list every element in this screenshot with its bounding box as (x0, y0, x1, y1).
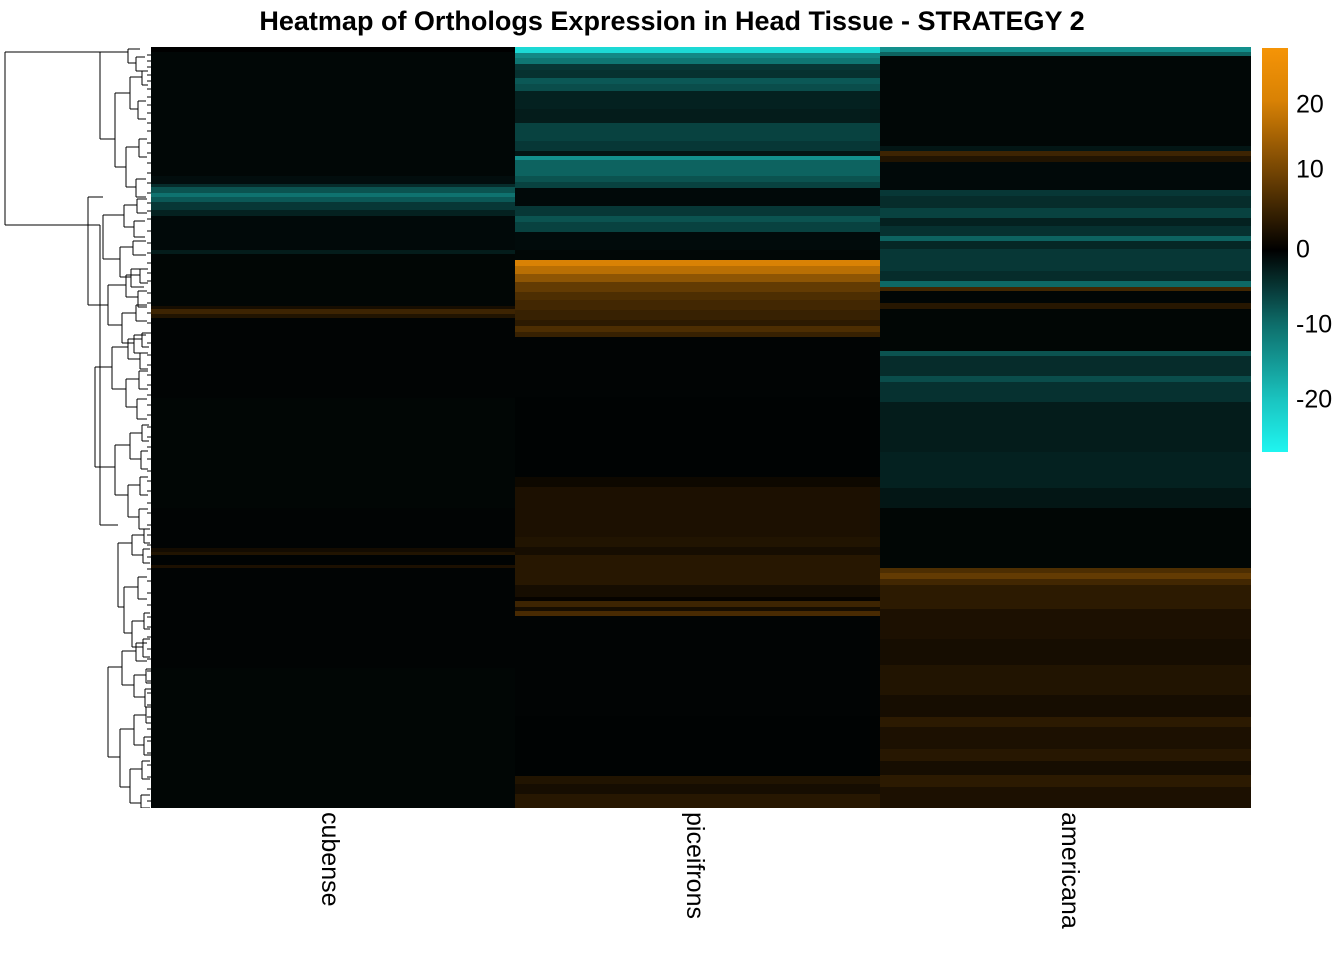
heatmap-band (515, 141, 880, 151)
heatmap-band (515, 188, 880, 206)
heatmap-column-piceifrons (515, 47, 880, 808)
heatmap-band (515, 160, 880, 176)
heatmap-band (515, 585, 880, 597)
heatmap-band (880, 727, 1251, 749)
heatmap-band (880, 749, 1251, 761)
heatmap-band (880, 226, 1251, 236)
heatmap-band (880, 271, 1251, 281)
heatmap-band (151, 202, 515, 210)
heatmap-band (880, 695, 1251, 717)
heatmap-band (880, 488, 1251, 508)
heatmap-band (515, 123, 880, 141)
heatmap-band (880, 639, 1251, 665)
heatmap-band (880, 241, 1251, 249)
colorbar-legend (1262, 48, 1288, 452)
row-dendrogram (0, 47, 151, 808)
heatmap-band (880, 585, 1251, 609)
heatmap-band (515, 537, 880, 547)
heatmap-band (151, 668, 515, 808)
heatmap-band (515, 91, 880, 109)
heatmap-band (151, 52, 515, 176)
heatmap-column-americana (880, 47, 1251, 808)
heatmap-band (515, 616, 880, 716)
heatmap-band (515, 109, 880, 123)
heatmap-band (515, 337, 880, 397)
heatmap-band (880, 609, 1251, 639)
heatmap-band (515, 70, 880, 78)
heatmap-band (515, 292, 880, 300)
column-label-piceifrons: piceifrons (680, 812, 709, 919)
heatmap-band (515, 555, 880, 585)
colorbar-tick-20: 20 (1296, 91, 1324, 120)
heatmap-band (880, 717, 1251, 727)
heatmap-band (880, 382, 1251, 402)
heatmap-band (515, 206, 880, 216)
heatmap-band (151, 508, 515, 548)
heatmap-band (880, 787, 1251, 808)
colorbar-tick-0: 0 (1296, 236, 1310, 265)
heatmap-band (880, 761, 1251, 775)
colorbar-tick-neg20: -20 (1296, 386, 1332, 415)
heatmap-band (515, 300, 880, 310)
heatmap-band (151, 555, 515, 565)
page-title: Heatmap of Orthologs Expression in Head … (0, 6, 1344, 37)
heatmap-band (880, 309, 1251, 351)
heatmap-band (151, 318, 515, 398)
heatmap-band (151, 568, 515, 668)
heatmap-band (880, 249, 1251, 271)
heatmap-band (880, 402, 1251, 452)
heatmap-band (515, 266, 880, 274)
heatmap-band (880, 775, 1251, 787)
heatmap-band (880, 208, 1251, 218)
column-label-americana: americana (1055, 812, 1084, 929)
heatmap-band (151, 216, 515, 250)
heatmap-band (151, 398, 515, 508)
colorbar-tick-10: 10 (1296, 156, 1324, 185)
heatmap-band (151, 176, 515, 184)
heatmap-band (880, 196, 1251, 208)
column-label-cubense: cubense (315, 812, 344, 907)
heatmap-column-cubense (151, 47, 515, 808)
heatmap-band (880, 162, 1251, 190)
heatmap-band (515, 487, 880, 537)
heatmap-band (880, 508, 1251, 568)
heatmap-matrix (151, 47, 1251, 808)
heatmap-band (515, 716, 880, 776)
heatmap-band (515, 794, 880, 808)
heatmap-band (515, 477, 880, 487)
colorbar-tick-neg10: -10 (1296, 311, 1332, 340)
heatmap-band (515, 274, 880, 282)
heatmap-band (880, 356, 1251, 376)
heatmap-band (151, 254, 515, 306)
heatmap-band (515, 250, 880, 260)
heatmap-band (880, 56, 1251, 146)
heatmap-band (515, 547, 880, 555)
heatmap-band (515, 232, 880, 250)
heatmap-band (880, 291, 1251, 303)
heatmap-band (880, 665, 1251, 695)
dendrogram-svg (0, 47, 151, 808)
heatmap-band (515, 84, 880, 91)
heatmap-band (880, 452, 1251, 488)
heatmap-band (880, 218, 1251, 226)
colorbar-gradient (1262, 48, 1288, 452)
heatmap-band (515, 784, 880, 794)
heatmap-band (515, 222, 880, 232)
heatmap-band (515, 397, 880, 477)
heatmap-band (515, 310, 880, 320)
heatmap-band (515, 282, 880, 292)
heatmap-band (515, 776, 880, 784)
